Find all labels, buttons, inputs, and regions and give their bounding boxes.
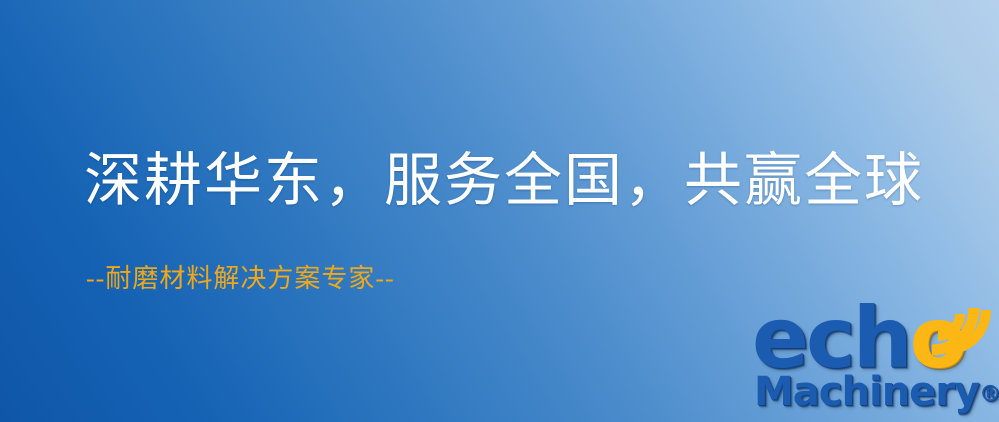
logo-machinery-word: Machinery [754,369,979,415]
company-logo[interactable]: echo Machinery® [748,296,999,422]
logo-text-machinery: Machinery® [754,372,999,412]
signal-waves-icon [916,292,996,356]
registered-trademark-icon: ® [979,382,999,407]
hero-banner: 深耕华东，服务全国，共赢全球 --耐磨材料解决方案专家-- echo Machi… [0,0,999,422]
banner-subtitle: --耐磨材料解决方案专家-- [86,266,395,292]
banner-headline: 深耕华东，服务全国，共赢全球 [84,152,924,210]
